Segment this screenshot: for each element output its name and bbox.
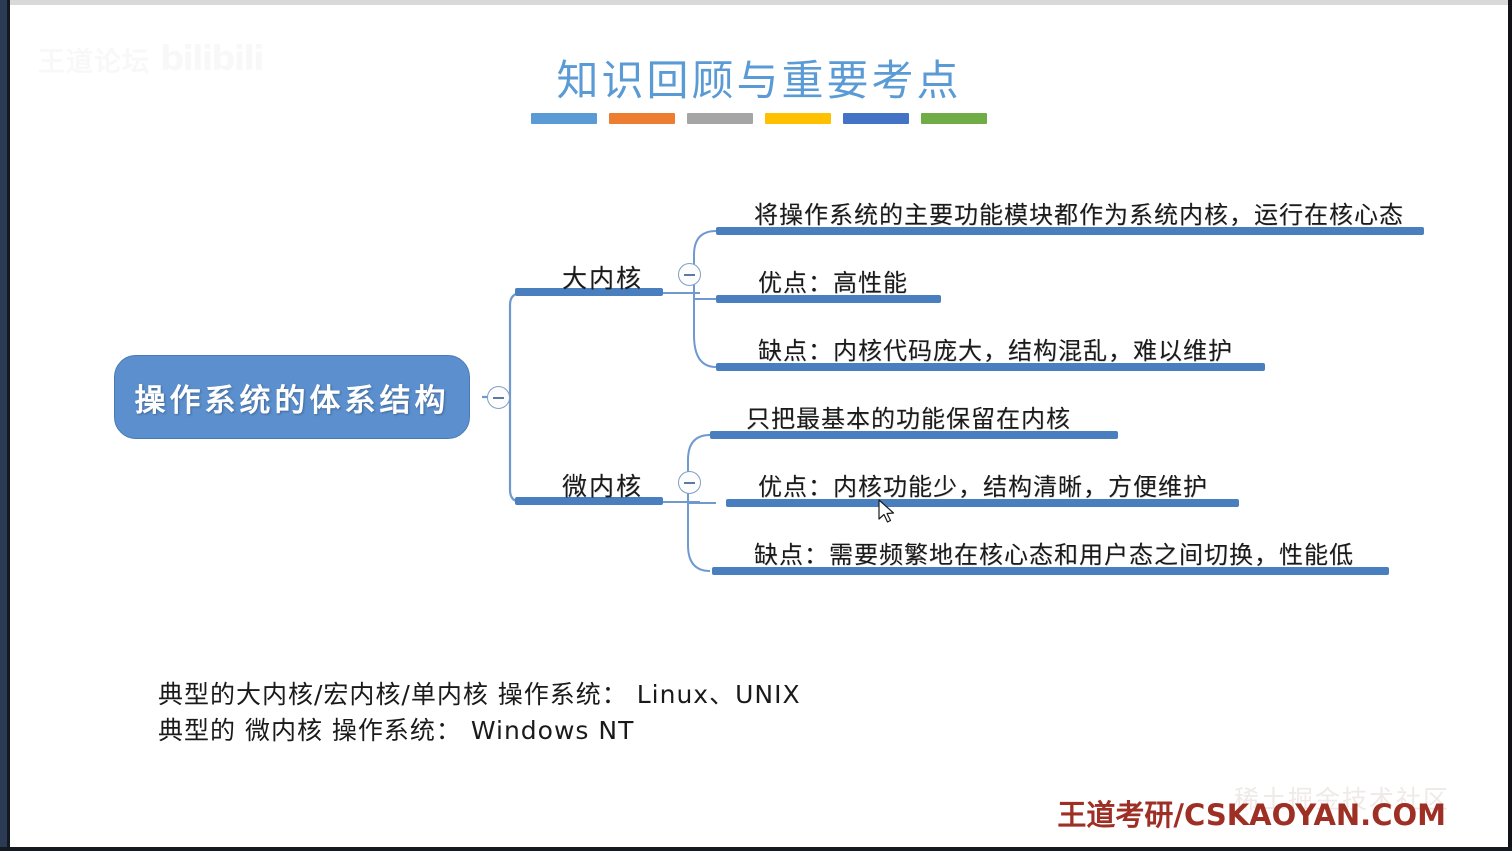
branch-label-macrokernel[interactable]: 大内核 (562, 259, 643, 295)
note-line-1: 典型的大内核/宏内核/单内核 操作系统： Linux、UNIX (158, 677, 801, 713)
leaf-label-microkernel-2[interactable]: 缺点：需要频繁地在核心态和用户态之间切换，性能低 (754, 535, 1354, 570)
window-edge-right (1508, 0, 1512, 851)
leaf-label-macrokernel-2[interactable]: 缺点：内核代码庞大，结构混乱，难以维护 (758, 331, 1233, 366)
slide-canvas: 王道论坛 bilibili 知识回顾与重要考点 (10, 5, 1508, 848)
branch-collapse-icon-microkernel[interactable] (678, 471, 701, 494)
mindmap-root-node[interactable]: 操作系统的体系结构 (114, 355, 470, 439)
bottom-notes: 典型的大内核/宏内核/单内核 操作系统： Linux、UNIX 典型的 微内核 … (158, 677, 801, 749)
branch-label-microkernel[interactable]: 微内核 (562, 467, 643, 503)
window-edge-left-inner (7, 0, 10, 851)
window-edge-left (0, 0, 7, 851)
leaf-label-macrokernel-0[interactable]: 将操作系统的主要功能模块都作为系统内核，运行在核心态 (754, 195, 1404, 230)
slide-stage: 王道论坛 bilibili 知识回顾与重要考点 (0, 0, 1512, 851)
window-edge-bottom (0, 847, 1512, 851)
footer-brand: 王道考研/CSKAOYAN.COM (1057, 792, 1446, 834)
root-collapse-icon[interactable] (487, 386, 510, 409)
mindmap-root-label: 操作系统的体系结构 (135, 375, 450, 420)
leaf-label-microkernel-1[interactable]: 优点：内核功能少，结构清晰，方便维护 (758, 467, 1208, 502)
window-edge-top (10, 0, 1508, 5)
leaf-label-macrokernel-1[interactable]: 优点：高性能 (758, 263, 908, 298)
leaf-label-microkernel-0[interactable]: 只把最基本的功能保留在内核 (746, 399, 1071, 434)
note-line-2: 典型的 微内核 操作系统： Windows NT (158, 713, 801, 749)
branch-collapse-icon-macrokernel[interactable] (678, 263, 701, 286)
